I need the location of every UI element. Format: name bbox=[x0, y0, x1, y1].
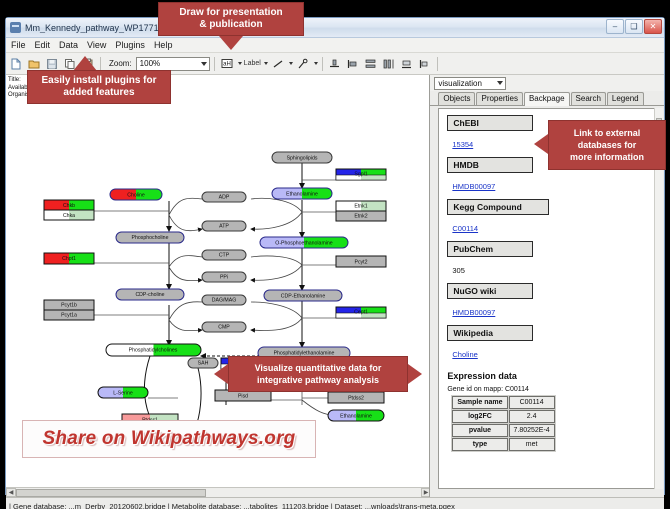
svg-text:L-Serine: L-Serine bbox=[113, 390, 133, 396]
kegg-compound-link[interactable]: C00114 bbox=[452, 224, 478, 233]
close-button[interactable]: ✕ bbox=[644, 19, 662, 34]
datanode-dropdown-icon[interactable] bbox=[238, 62, 242, 65]
row-value: 2.4 bbox=[509, 410, 555, 423]
maximize-button[interactable]: ❑ bbox=[625, 19, 643, 34]
pubchem-value: 305 bbox=[452, 266, 465, 275]
svg-text:CDP-choline: CDP-choline bbox=[135, 292, 164, 298]
svg-text:Sphingolipids: Sphingolipids bbox=[287, 155, 318, 161]
label-tool-button[interactable]: Label bbox=[244, 60, 261, 67]
nugo-wiki-heading: NuGO wiki bbox=[447, 283, 533, 299]
callout-link-arrow-icon bbox=[534, 134, 548, 154]
svg-text:Phosphocholine: Phosphocholine bbox=[132, 235, 169, 241]
gene-id-line: Gene id on mapp: C00114 bbox=[447, 386, 656, 393]
row-key: type bbox=[452, 438, 507, 451]
callout-visualize-left-arrow-icon bbox=[214, 364, 228, 384]
node-sphingolipids[interactable]: Sphingolipids bbox=[272, 152, 332, 163]
row-key: Sample name bbox=[452, 396, 507, 409]
datanode-icon[interactable]: aH bbox=[219, 56, 235, 72]
svg-text:Etnk1: Etnk1 bbox=[354, 204, 367, 210]
distribute-vertical-icon[interactable] bbox=[363, 56, 379, 72]
expression-data-table: Sample name C00114 log2FC 2.4 pvalue 7.8… bbox=[451, 395, 555, 452]
svg-text:CTP: CTP bbox=[219, 253, 230, 259]
visualization-value: visualization bbox=[438, 79, 482, 88]
svg-text:CMP: CMP bbox=[218, 325, 230, 331]
hmdb-link[interactable]: HMDB00097 bbox=[452, 182, 495, 191]
svg-text:SAH: SAH bbox=[198, 361, 209, 367]
expression-data-title: Expression data bbox=[447, 371, 656, 381]
svg-text:Ethanolamine: Ethanolamine bbox=[286, 191, 318, 197]
distribute-horizontal-icon[interactable] bbox=[381, 56, 397, 72]
svg-text:Ethanolamine: Ethanolamine bbox=[340, 413, 372, 419]
node-ethanolamine[interactable]: Ethanolamine bbox=[272, 188, 332, 199]
chevron-down-icon bbox=[497, 81, 503, 85]
svg-text:Pcyt1b: Pcyt1b bbox=[61, 303, 77, 309]
visualization-bar: visualization bbox=[430, 75, 664, 91]
wikipedia-link[interactable]: Choline bbox=[452, 350, 477, 359]
wikipedia-heading: Wikipedia bbox=[447, 325, 533, 341]
tab-legend[interactable]: Legend bbox=[607, 92, 644, 105]
tab-backpage[interactable]: Backpage bbox=[524, 92, 570, 106]
window-titlebar: Mm_Kennedy_pathway_WP1771_45176.gpml – ❑… bbox=[6, 18, 664, 38]
node-phosphatidylcholines[interactable]: Phosphatidylcholines bbox=[106, 344, 201, 356]
svg-text:DAG/MAG: DAG/MAG bbox=[212, 298, 237, 304]
svg-text:Ptdss2: Ptdss2 bbox=[348, 395, 364, 401]
kegg-compound-heading: Kegg Compound bbox=[447, 199, 549, 215]
table-row: type met bbox=[452, 438, 554, 451]
chebi-heading: ChEBI bbox=[447, 115, 533, 131]
node-cmp[interactable]: CMP bbox=[202, 322, 246, 332]
window-controls: – ❑ ✕ bbox=[606, 19, 662, 34]
canvas-horizontal-scrollbar[interactable]: ◀ ▶ bbox=[6, 487, 430, 497]
node-ethanolamine-2[interactable]: Ethanolamine bbox=[328, 410, 384, 421]
svg-text:O-Phosphoethanolamine: O-Phosphoethanolamine bbox=[275, 240, 333, 246]
svg-text:aH: aH bbox=[223, 62, 231, 68]
node-ppi[interactable]: PPi bbox=[202, 272, 246, 282]
node-sgpl1[interactable]: Sgpl1 bbox=[336, 169, 386, 180]
scroll-left-arrow-icon[interactable]: ◀ bbox=[6, 488, 16, 497]
callout-link: Link to external databases for more info… bbox=[548, 120, 666, 170]
callout-visualize-text: Visualize quantitative data for integrat… bbox=[255, 362, 382, 386]
toolbar-separator-2 bbox=[214, 57, 215, 71]
panel-tabstrip: Objects Properties Backpage Search Legen… bbox=[430, 91, 664, 106]
align-bottom-icon[interactable] bbox=[399, 56, 415, 72]
node-chpt1[interactable]: Chpt1 bbox=[44, 253, 94, 264]
node-pcyt1a[interactable]: Pcyt1a bbox=[44, 310, 94, 320]
share-banner-text: Share on Wikipathways.org bbox=[43, 428, 296, 450]
line-dropdown-icon[interactable] bbox=[289, 62, 293, 65]
new-file-icon[interactable] bbox=[8, 56, 24, 72]
menu-item-edit[interactable]: Edit bbox=[34, 40, 52, 50]
node-pcyt2[interactable]: Pcyt2 bbox=[336, 256, 386, 267]
minimize-button[interactable]: – bbox=[606, 19, 624, 34]
table-row: log2FC 2.4 bbox=[452, 410, 554, 423]
callout-plugins: Easily install plugins for added feature… bbox=[27, 70, 171, 104]
hmdb-heading: HMDB bbox=[447, 157, 533, 173]
svg-text:PPi: PPi bbox=[220, 275, 228, 281]
svg-text:Choline: Choline bbox=[127, 192, 145, 198]
chevron-down-icon bbox=[201, 62, 207, 66]
callout-visualize: Visualize quantitative data for integrat… bbox=[228, 356, 408, 392]
node-ctp[interactable]: CTP bbox=[202, 250, 246, 260]
anchor-line-icon[interactable] bbox=[295, 56, 311, 72]
node-chkb[interactable]: Chkb bbox=[44, 200, 94, 210]
svg-text:CDP-Ethanolamine: CDP-Ethanolamine bbox=[281, 293, 326, 299]
callout-plugins-arrow-icon bbox=[73, 56, 97, 71]
row-value: C00114 bbox=[509, 396, 555, 409]
menubar: File Edit Data View Plugins Help bbox=[6, 38, 664, 53]
node-atp[interactable]: ATP bbox=[202, 221, 246, 231]
label-dropdown-icon[interactable] bbox=[264, 62, 268, 65]
node-l-serine-left[interactable]: L-Serine bbox=[98, 387, 148, 398]
table-row: pvalue 7.80252E-4 bbox=[452, 424, 554, 437]
row-key: log2FC bbox=[452, 410, 507, 423]
node-dagmag[interactable]: DAG/MAG bbox=[202, 295, 246, 305]
screenshot-root: Mm_Kennedy_pathway_WP1771_45176.gpml – ❑… bbox=[0, 0, 670, 509]
nugo-wiki-link[interactable]: HMDB00097 bbox=[452, 308, 495, 317]
row-value: 7.80252E-4 bbox=[509, 424, 555, 437]
node-ptdss2[interactable]: Ptdss2 bbox=[328, 392, 384, 403]
zoom-combobox[interactable]: 100% bbox=[136, 57, 210, 71]
node-choline[interactable]: Choline bbox=[110, 189, 162, 200]
scroll-right-arrow-icon[interactable]: ▶ bbox=[421, 488, 430, 497]
table-row: Sample name C00114 bbox=[452, 396, 554, 409]
svg-text:Sgpl1: Sgpl1 bbox=[354, 171, 367, 177]
row-key: pvalue bbox=[452, 424, 507, 437]
menu-item-file[interactable]: File bbox=[10, 40, 27, 50]
chebi-link[interactable]: 15354 bbox=[452, 140, 473, 149]
svg-text:Pcyt1a: Pcyt1a bbox=[61, 313, 77, 319]
toolbar-separator-3 bbox=[322, 57, 323, 71]
statusbar-text: | Gene database: ...m_Derby_20120602.bri… bbox=[9, 502, 455, 509]
align-right-icon[interactable] bbox=[417, 56, 433, 72]
node-phosphocholine[interactable]: Phosphocholine bbox=[116, 232, 184, 243]
svg-text:Pcyt2: Pcyt2 bbox=[355, 259, 368, 265]
tab-search[interactable]: Search bbox=[571, 92, 606, 105]
zoom-label: Zoom: bbox=[109, 59, 132, 68]
svg-text:Etnk2: Etnk2 bbox=[354, 214, 367, 220]
tab-objects[interactable]: Objects bbox=[438, 92, 475, 105]
callout-plugins-text: Easily install plugins for added feature… bbox=[41, 75, 156, 99]
pubchem-heading: PubChem bbox=[447, 241, 533, 257]
svg-text:ADP: ADP bbox=[219, 195, 230, 201]
application-icon bbox=[10, 22, 21, 33]
callout-link-text: Link to external databases for more info… bbox=[570, 127, 644, 163]
svg-text:Chpt1: Chpt1 bbox=[62, 256, 76, 262]
callout-draw-arrow-icon bbox=[219, 36, 243, 50]
node-etnk1[interactable]: Etnk1 bbox=[336, 201, 386, 211]
callout-draw-text: Draw for presentation & publication bbox=[179, 7, 282, 31]
menu-item-help[interactable]: Help bbox=[153, 40, 174, 50]
toolbar-separator-4 bbox=[437, 57, 438, 71]
toolbar-separator bbox=[100, 57, 101, 71]
visualization-combobox[interactable]: visualization bbox=[434, 77, 506, 90]
node-cdp-choline[interactable]: CDP-choline bbox=[116, 289, 184, 300]
align-left-icon[interactable] bbox=[345, 56, 361, 72]
row-value: met bbox=[509, 438, 555, 451]
node-o-phosphoethanolamine[interactable]: O-Phosphoethanolamine bbox=[260, 237, 348, 248]
zoom-value: 100% bbox=[140, 59, 160, 68]
node-etnk2[interactable]: Etnk2 bbox=[336, 211, 386, 221]
svg-text:Pisd: Pisd bbox=[238, 393, 248, 399]
node-pcyt1b[interactable]: Pcyt1b bbox=[44, 300, 94, 310]
menu-item-view[interactable]: View bbox=[86, 40, 107, 50]
tab-properties[interactable]: Properties bbox=[476, 92, 522, 105]
share-banner: Share on Wikipathways.org bbox=[22, 420, 316, 458]
node-chka[interactable]: Chka bbox=[44, 210, 94, 220]
menu-item-data[interactable]: Data bbox=[58, 40, 79, 50]
menu-item-plugins[interactable]: Plugins bbox=[114, 40, 146, 50]
statusbar: | Gene database: ...m_Derby_20120602.bri… bbox=[6, 497, 664, 509]
anchor-dropdown-icon[interactable] bbox=[314, 62, 318, 65]
canvas-scroll-thumb[interactable] bbox=[16, 489, 206, 497]
node-cept1[interactable]: Cept1 bbox=[336, 307, 386, 318]
node-adp[interactable]: ADP bbox=[202, 192, 246, 202]
svg-text:Cept1: Cept1 bbox=[354, 309, 368, 315]
svg-text:Chka: Chka bbox=[63, 213, 75, 219]
svg-text:ATP: ATP bbox=[219, 224, 229, 230]
callout-draw: Draw for presentation & publication bbox=[158, 2, 304, 36]
svg-text:Phosphatidylcholines: Phosphatidylcholines bbox=[129, 348, 178, 354]
align-top-icon[interactable] bbox=[327, 56, 343, 72]
svg-text:Chkb: Chkb bbox=[63, 203, 75, 209]
node-cdp-ethanolamine[interactable]: CDP-Ethanolamine bbox=[264, 290, 342, 301]
line-icon[interactable] bbox=[270, 56, 286, 72]
callout-visualize-right-arrow-icon bbox=[408, 364, 422, 384]
